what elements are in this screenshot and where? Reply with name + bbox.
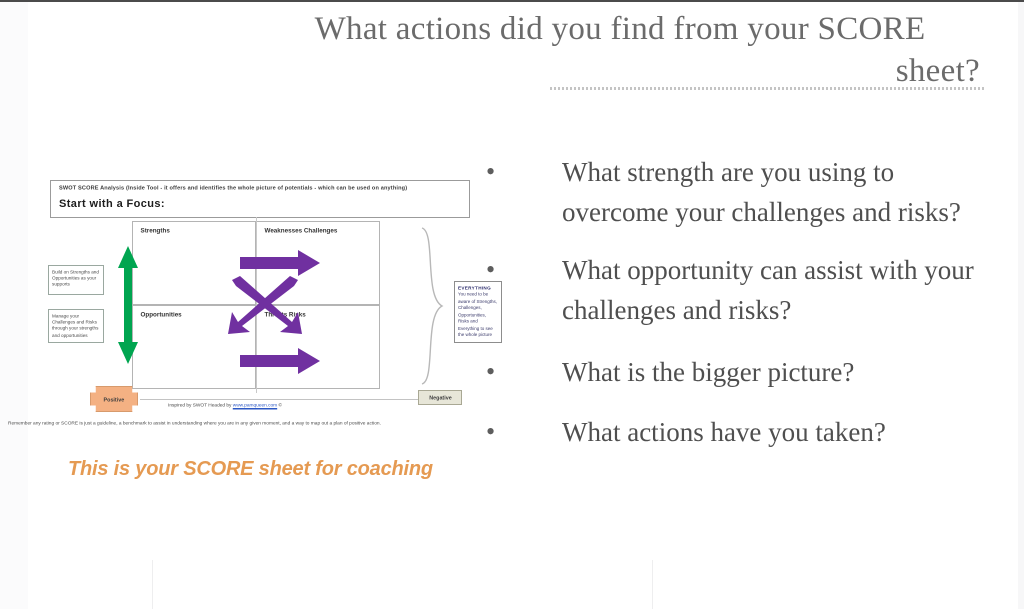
page-title: What actions did you find from your SCOR… bbox=[250, 8, 990, 92]
right-brace-icon bbox=[418, 226, 444, 386]
bullet-text: What opportunity can assist with your ch… bbox=[504, 250, 1006, 330]
bullet-text: What is the bigger picture? bbox=[504, 352, 1006, 392]
bullet-text: What actions have you taken? bbox=[504, 412, 1006, 452]
attribution-line: Inspired by SWOT Headed by www.pamqueen.… bbox=[168, 402, 558, 408]
status-badge-positive: Positive bbox=[90, 386, 138, 412]
list-item: • What actions have you taken? bbox=[486, 412, 1006, 452]
list-item: • What strength are you using to overcom… bbox=[486, 152, 1006, 232]
score-sheet-caption: This is your SCORE sheet for coaching bbox=[68, 458, 468, 481]
top-edge-rule bbox=[0, 0, 1024, 2]
slide-canvas: What actions did you find from your SCOR… bbox=[0, 0, 1024, 609]
title-underline bbox=[550, 87, 986, 90]
score-sheet-title: Start with a Focus: bbox=[59, 198, 463, 210]
score-sheet-subtitle: SWOT SCORE Analysis (Inside Tool - it of… bbox=[59, 185, 685, 191]
right-edge-shade bbox=[1018, 2, 1024, 609]
attribution-prefix: Inspired by SWOT Headed by bbox=[168, 402, 231, 408]
note-box-strengths: Build on Strengths and Opportunities as … bbox=[48, 265, 104, 295]
purple-arrow-right-top-icon bbox=[240, 250, 320, 276]
left-edge-shade bbox=[0, 2, 28, 609]
vertical-double-arrow-icon bbox=[116, 246, 140, 364]
page-title-line-1: What actions did you find from your SCOR… bbox=[250, 8, 990, 50]
note-box-text: Manage your Challenges and Risks through… bbox=[52, 313, 100, 338]
note-box-text: Build on Strengths and Opportunities as … bbox=[52, 269, 100, 288]
attribution-link[interactable]: www.pamqueen.com bbox=[233, 402, 277, 408]
status-badge-positive-label: Positive bbox=[104, 381, 125, 420]
everything-box-text: You need to be aware of Strengths, Chall… bbox=[458, 291, 498, 338]
purple-crossed-arrows-icon bbox=[228, 276, 306, 336]
purple-arrow-right-bottom-icon bbox=[240, 348, 320, 374]
attribution-suffix: © bbox=[279, 402, 283, 408]
score-sheet-header: SWOT SCORE Analysis (Inside Tool - it of… bbox=[50, 180, 470, 218]
note-box-challenges: Manage your Challenges and Risks through… bbox=[48, 309, 104, 343]
everything-box: EVERYTHING You need to be aware of Stren… bbox=[454, 281, 502, 343]
bottom-divider-right bbox=[652, 560, 653, 609]
score-sheet-diagram: SWOT SCORE Analysis (Inside Tool - it of… bbox=[40, 178, 478, 424]
bullet-marker-icon: • bbox=[486, 412, 504, 452]
bullet-marker-icon: • bbox=[486, 352, 504, 392]
bottom-divider-left bbox=[152, 560, 153, 609]
list-item: • What is the bigger picture? bbox=[486, 352, 1006, 392]
disclaimer-text: Remember any rating or SCORE is just a g… bbox=[8, 420, 799, 426]
axis-baseline bbox=[140, 399, 456, 400]
quadrant-label: Weaknesses Challenges bbox=[257, 222, 440, 234]
bullet-text: What strength are you using to overcome … bbox=[504, 152, 1006, 232]
list-item: • What opportunity can assist with your … bbox=[486, 250, 1006, 330]
